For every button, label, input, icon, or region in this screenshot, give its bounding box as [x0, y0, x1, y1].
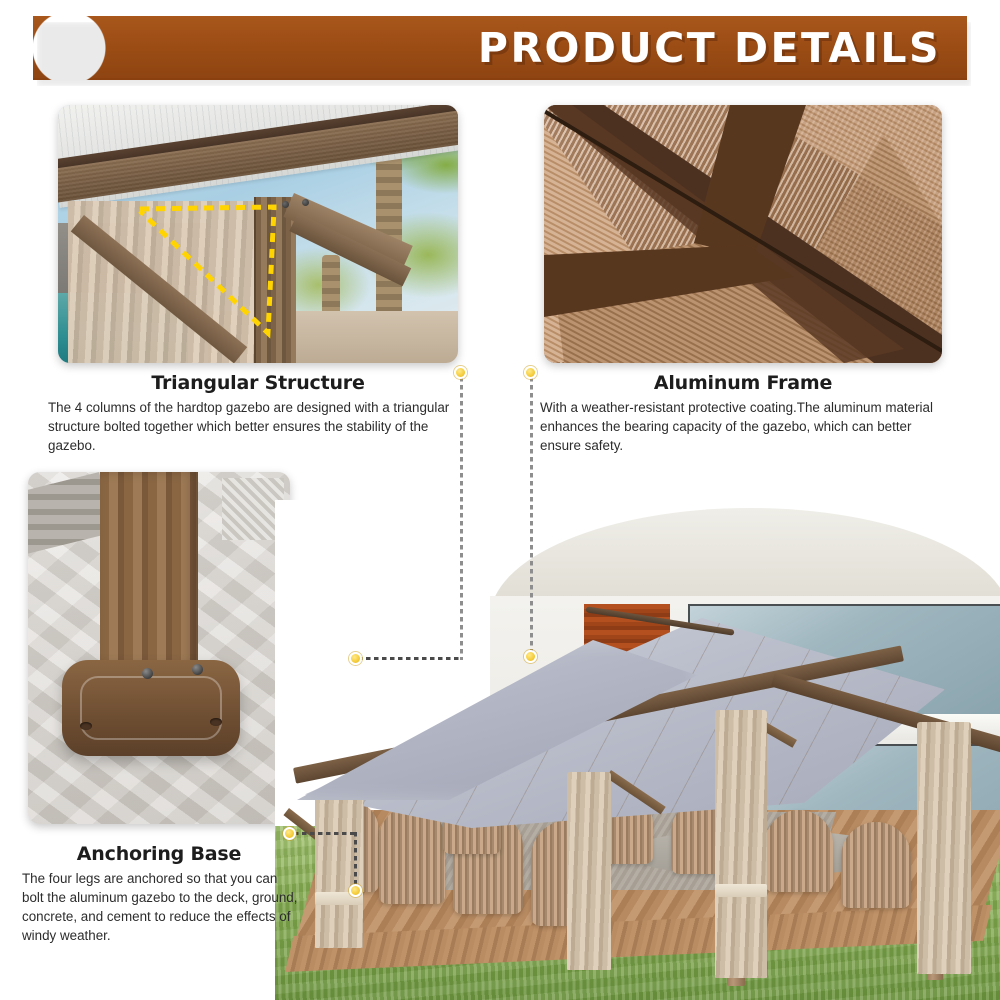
- gazebo-curtain-panel: [715, 710, 767, 978]
- feature-image-triangular-structure: [58, 105, 458, 363]
- connector-dot-anchor-left: [283, 827, 296, 840]
- connector-line-triangular: [460, 377, 463, 660]
- dining-chair: [379, 806, 445, 904]
- feature-body-anchoring-base: The four legs are anchored so that you c…: [22, 869, 302, 945]
- feature-body-aluminum-frame: With a weather-resistant protective coat…: [540, 398, 950, 455]
- connector-dot-triangular-bottom: [349, 652, 362, 665]
- feature-title-triangular-structure: Triangular Structure: [58, 372, 458, 394]
- connector-line-triangular-horizontal: [358, 657, 462, 660]
- feature-image-anchoring-base: [28, 472, 290, 824]
- connector-dot-aluminum-bottom: [524, 650, 537, 663]
- screw-icon: [142, 668, 153, 679]
- hero-gazebo-photo: [275, 500, 1000, 1000]
- connector-line-aluminum: [530, 377, 533, 656]
- gazebo-post: [100, 472, 198, 688]
- header-banner: PRODUCT DETAILS: [33, 16, 967, 80]
- feature-body-triangular-structure: The 4 columns of the hardtop gazebo are …: [48, 398, 468, 455]
- connector-dot-aluminum-top: [524, 366, 537, 379]
- dining-chair: [765, 810, 833, 892]
- connector-dot-anchor-bottom: [349, 884, 362, 897]
- aluminum-panel-shading: [544, 105, 942, 363]
- bolt-hole-icon: [80, 722, 92, 730]
- product-details-infographic: PRODUCT DETAILS: [0, 0, 1000, 1000]
- gazebo-curtain-panel: [917, 722, 971, 974]
- dining-chair: [841, 822, 911, 908]
- bolt-hole-icon: [210, 718, 222, 726]
- feature-title-anchoring-base: Anchoring Base: [28, 843, 290, 865]
- feature-image-aluminum-frame: [544, 105, 942, 363]
- connector-dot-triangular-top: [454, 366, 467, 379]
- connector-line-anchor-horizontal: [294, 832, 356, 835]
- page-title: PRODUCT DETAILS: [478, 24, 941, 72]
- feature-title-aluminum-frame: Aluminum Frame: [544, 372, 942, 394]
- gazebo-curtain-tieback: [715, 884, 767, 897]
- screw-icon: [192, 664, 203, 675]
- triangle-highlight-overlay: [58, 105, 458, 363]
- hero-mask: [275, 500, 1000, 1000]
- base-plate-inner-ridge: [80, 676, 222, 740]
- gazebo-curtain-panel: [567, 772, 611, 970]
- connector-line-anchor-vertical: [354, 832, 357, 890]
